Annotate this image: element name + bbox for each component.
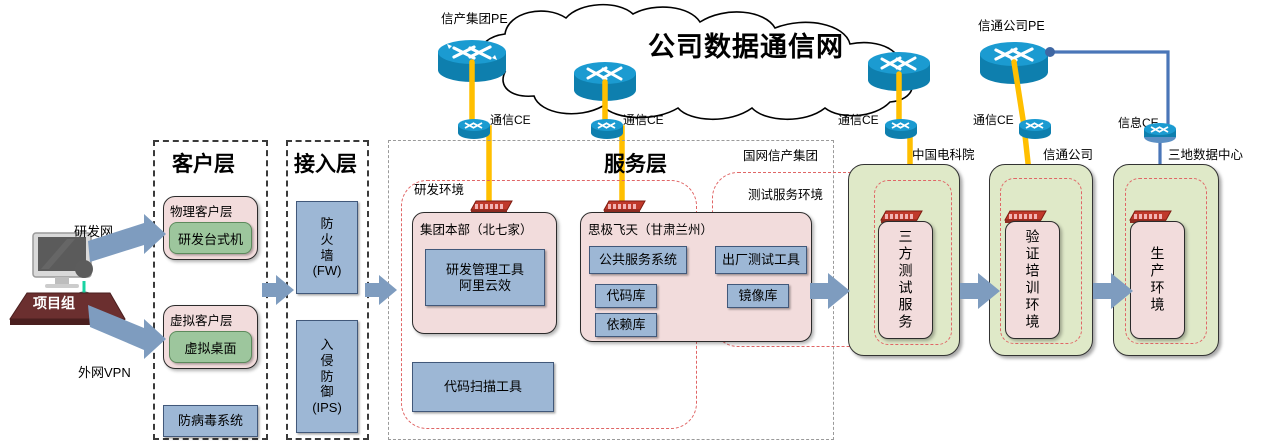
firewall-line-2: 火 — [320, 232, 333, 248]
ce-label-4: 通信CE — [973, 114, 1014, 128]
ce-router-4-icon[interactable] — [1018, 118, 1052, 140]
router-mid-icon[interactable] — [572, 60, 638, 104]
firewall-line-1: 防 — [320, 216, 333, 232]
link-label-dev-net: 研发网 — [74, 225, 113, 240]
ips-line-5: (IPS) — [312, 400, 342, 416]
ips-box[interactable]: 入 侵 防 御 (IPS) — [296, 320, 358, 433]
ce-router-5-icon[interactable] — [1143, 122, 1177, 144]
code-repo-box[interactable]: 代码库 — [595, 284, 657, 308]
image-repo-box[interactable]: 镜像库 — [727, 284, 789, 308]
hq-title: 集团本部（北七家） — [420, 219, 533, 238]
client-layer-title: 客户层 — [172, 148, 235, 178]
virtual-client-item[interactable]: 虚拟桌面 — [169, 331, 252, 363]
ce-router-3-icon[interactable] — [884, 118, 918, 140]
router-pe1-icon[interactable] — [436, 38, 508, 84]
code-scan-tool-box[interactable]: 代码扫描工具 — [412, 362, 554, 412]
env-1-box[interactable]: 三方测试服务 — [878, 221, 933, 339]
ce-label-2: 通信CE — [623, 114, 664, 128]
access-layer-title: 接入层 — [294, 148, 357, 178]
project-team-label: 项目组 — [33, 295, 75, 311]
service-layer-owner: 国网信产集团 — [743, 149, 818, 163]
router-label-pe1: 信产集团PE — [441, 12, 508, 26]
ips-line-3: 防 — [320, 369, 333, 385]
env-2-box[interactable]: 验证培训环境 — [1005, 221, 1060, 339]
test-env-label: 测试服务环境 — [748, 188, 823, 202]
sijifeitian-title: 思极飞天（甘肃兰州） — [588, 219, 713, 238]
link-label-external-vpn: 外网VPN — [78, 366, 131, 381]
physical-client-item[interactable]: 研发台式机 — [169, 222, 252, 254]
cloud-title: 公司数据通信网 — [648, 25, 844, 64]
dev-env-label: 研发环境 — [414, 183, 464, 197]
router-label-pe2: 信通公司PE — [978, 19, 1045, 33]
dependency-repo-box[interactable]: 依赖库 — [595, 313, 657, 337]
factory-test-tool-box[interactable]: 出厂测试工具 — [715, 246, 807, 274]
virtual-client-label: 虚拟客户层 — [170, 310, 233, 329]
antivirus-box[interactable]: 防病毒系统 — [163, 405, 258, 437]
service-layer-title: 服务层 — [604, 148, 667, 178]
env-3-owner: 三地数据中心 — [1168, 148, 1243, 162]
dev-mgmt-tool-box[interactable]: 研发管理工具 阿里云效 — [425, 249, 545, 306]
firewall-line-4: (FW) — [313, 263, 342, 279]
firewall-line-3: 墙 — [320, 248, 333, 264]
env-1-owner: 中国电科院 — [912, 148, 975, 162]
env-2-owner: 信通公司 — [1043, 148, 1093, 162]
firewall-box[interactable]: 防 火 墙 (FW) — [296, 201, 358, 294]
ce-router-2-icon[interactable] — [590, 118, 624, 140]
router-pe2-icon[interactable] — [978, 40, 1050, 86]
zone-client-layer — [153, 140, 268, 440]
env-3-box[interactable]: 生产环境 — [1130, 221, 1185, 339]
public-service-system-box[interactable]: 公共服务系统 — [589, 246, 687, 274]
ips-line-4: 御 — [320, 384, 333, 400]
ips-line-1: 入 — [320, 337, 333, 353]
ce-label-3: 通信CE — [838, 114, 879, 128]
router-right-cloud-icon[interactable] — [866, 50, 932, 94]
ce-label-1: 通信CE — [490, 114, 531, 128]
physical-client-label: 物理客户层 — [170, 201, 233, 220]
ce-router-1-icon[interactable] — [457, 118, 491, 140]
ips-line-2: 侵 — [320, 353, 333, 369]
